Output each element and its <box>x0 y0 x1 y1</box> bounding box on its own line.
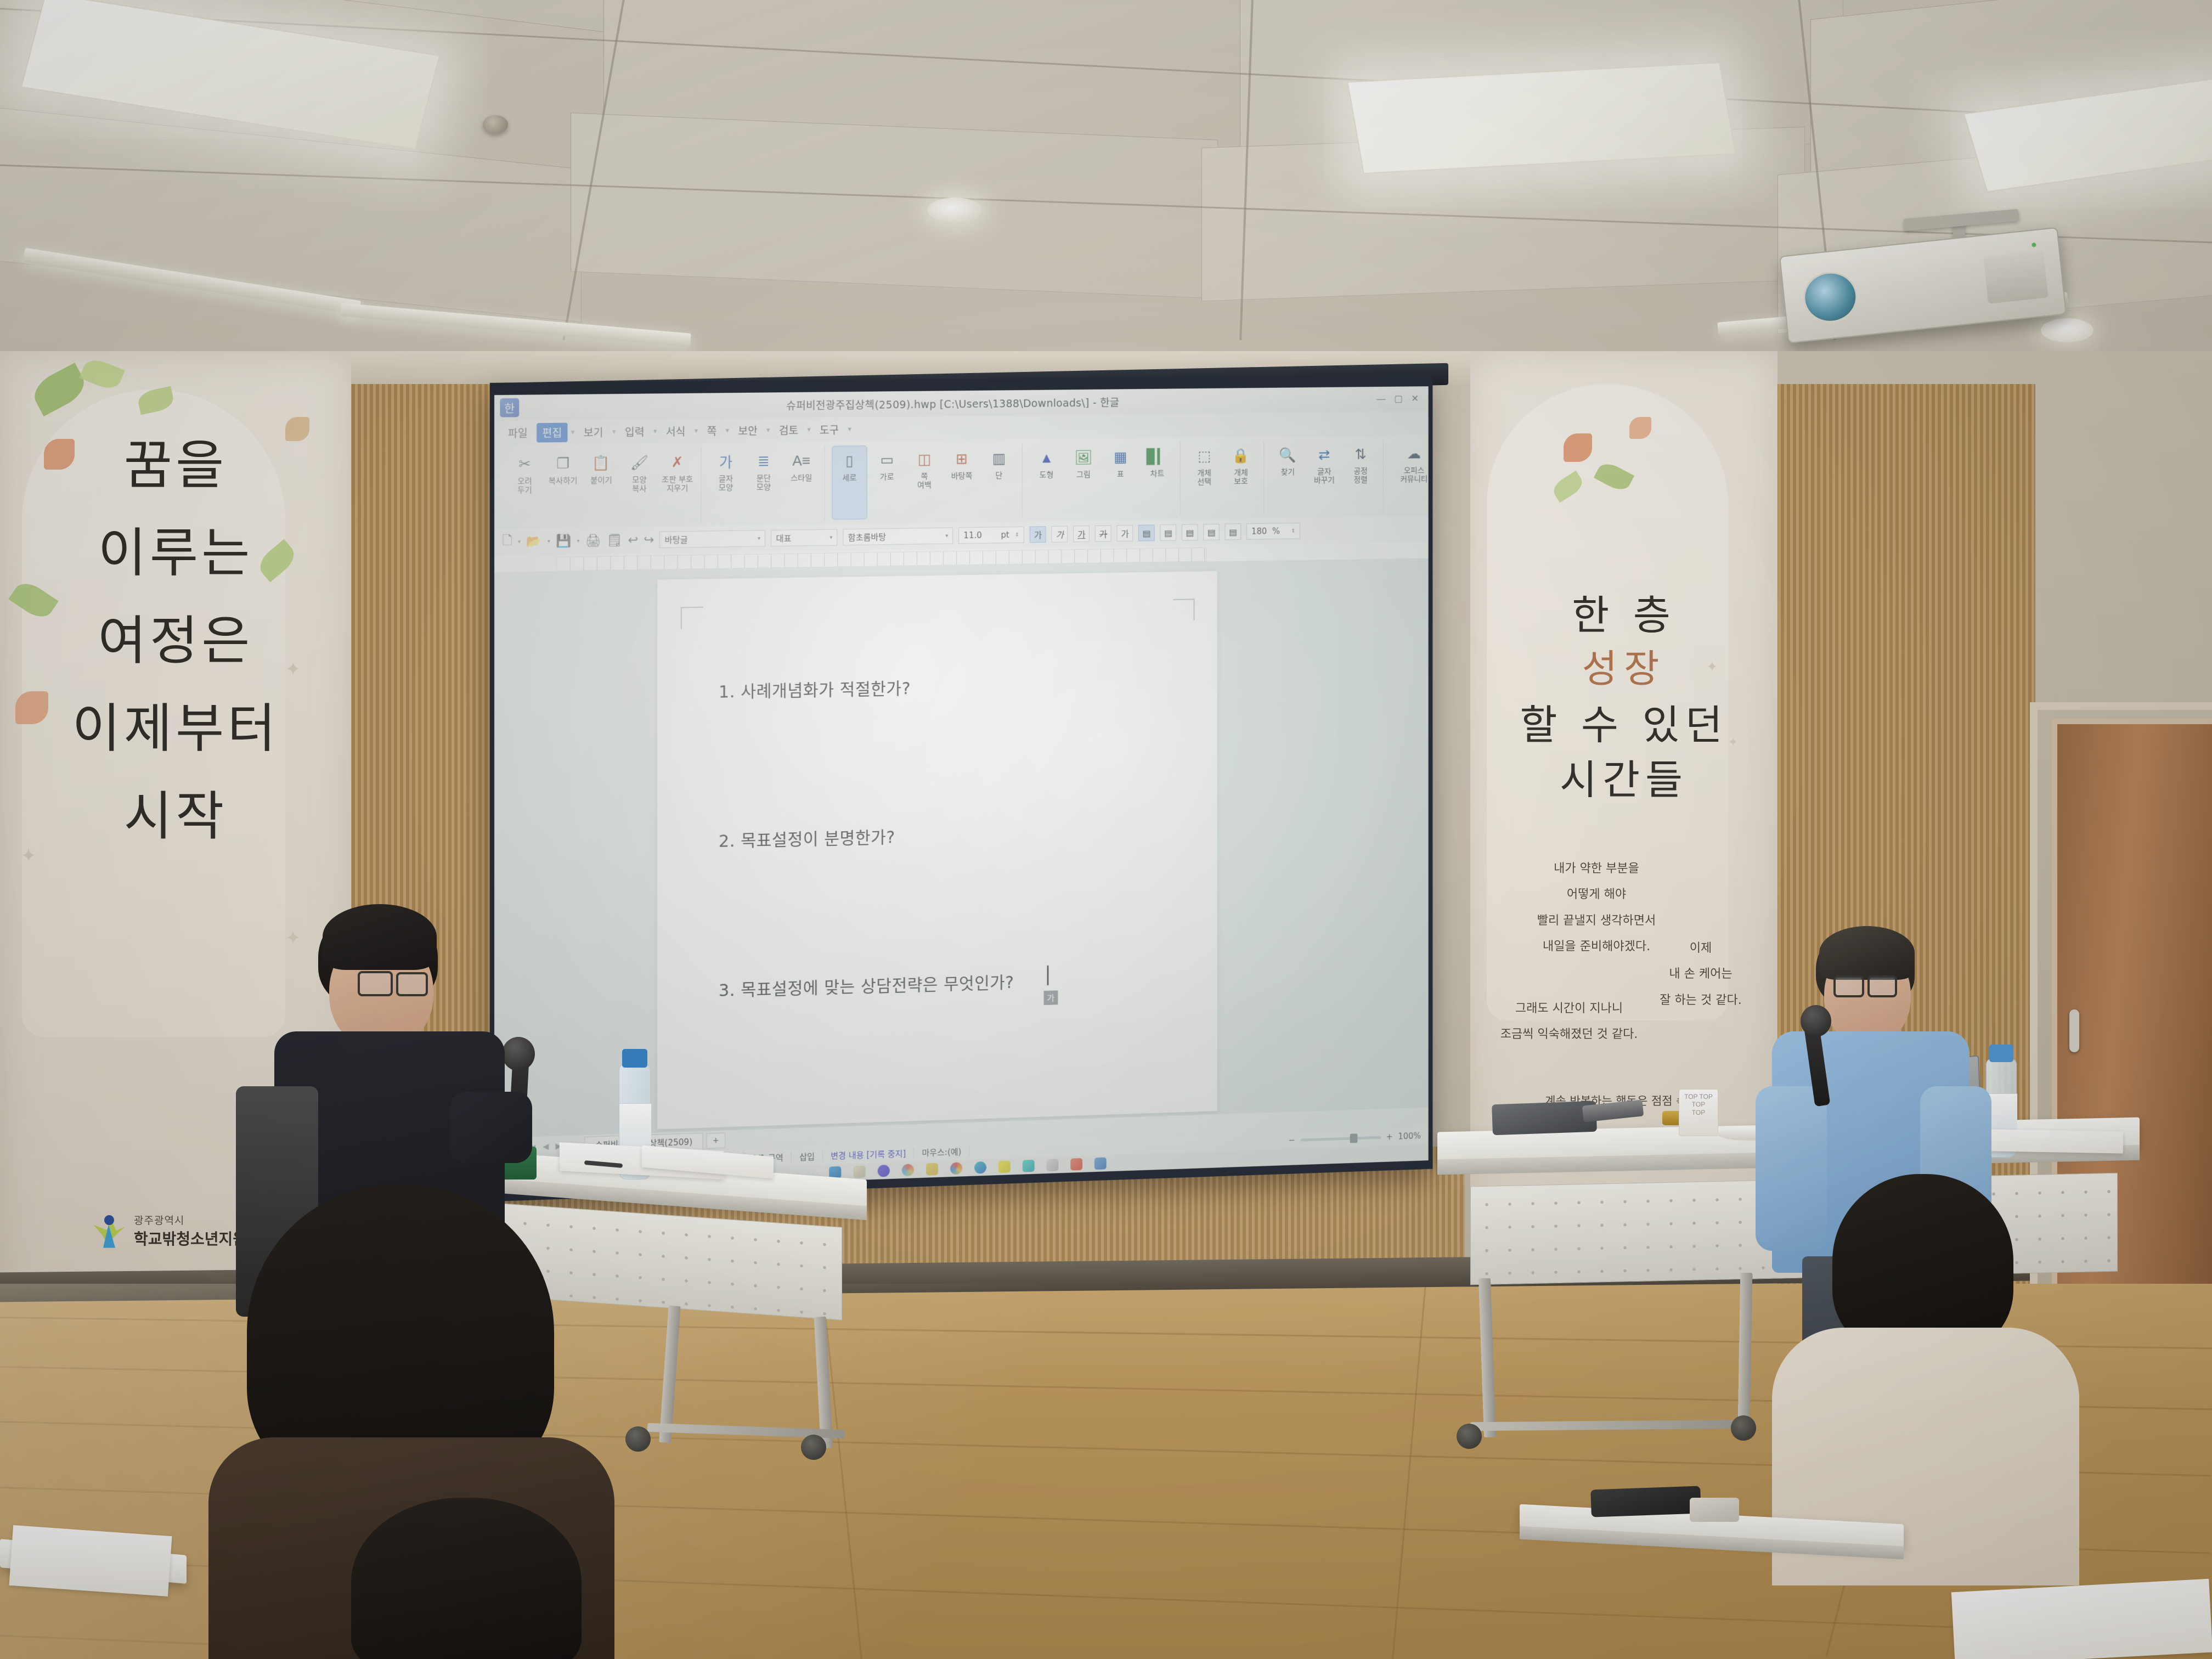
sparkle-decor-3: ✦ <box>285 927 301 949</box>
ribbon-group-text: 가 글자 모양 ≣ 문단 모양 A≡ 스타일 <box>702 446 825 522</box>
hwp-ribbon[interactable]: ✂ 오려 두기 ❐ 복사하기 📋 붙이기 🖌 <box>494 435 1429 529</box>
ribbon-office-community[interactable]: ☁ 오피스 커뮤니티 <box>1390 439 1429 512</box>
presenter-left-arm <box>450 1092 532 1163</box>
menu-sep: ▾ <box>612 427 616 436</box>
left-table-caster-2 <box>801 1435 826 1460</box>
shape-icon: ▲ <box>1036 447 1058 469</box>
font-size-selector[interactable]: 11.0 pt ⇕ <box>958 527 1024 544</box>
ribbon-group-insert: ▲ 도형 🖼 그림 ▦ 표 ▊▎ 차트 <box>1024 442 1181 517</box>
close-icon[interactable]: ✕ <box>1411 393 1419 404</box>
underline-button[interactable]: 가 <box>1074 526 1090 542</box>
share-icon[interactable] <box>1070 1158 1082 1171</box>
ribbon-copy[interactable]: ❐ 복사하기 <box>545 449 582 524</box>
font-icon: 가 <box>715 450 737 473</box>
stepper-icon[interactable]: ⇕ <box>1291 528 1295 534</box>
ribbon-clear-marks-label: 조판 부호 지우기 <box>662 475 693 493</box>
left-bottle-cap[interactable] <box>622 1049 647 1068</box>
margin-icon: ◫ <box>913 448 935 471</box>
left-banner-line-5: 시작 <box>0 779 351 854</box>
ribbon-group-office: ☁ 오피스 커뮤니티 <box>1385 439 1429 512</box>
minimize-icon[interactable]: — <box>1376 394 1386 405</box>
italic-button[interactable]: 가 <box>1052 526 1068 543</box>
ribbon-paragraph-label: 문단 모양 <box>757 474 771 492</box>
picture-icon: 🖼 <box>1073 446 1094 468</box>
ribbon-group-find: 🔍 찾기 ⇄ 글자 바꾸기 ⇅ 공정 정렬 <box>1265 440 1384 514</box>
status-mouse: 마우스:(예) <box>914 1145 969 1158</box>
redo-icon[interactable]: ↪ <box>644 533 654 548</box>
style-value: 바탕글 <box>665 534 688 546</box>
left-banner-line-3: 여정은 <box>0 603 351 678</box>
projector-lens <box>1801 269 1860 325</box>
right-banner-line-4: 시간들 <box>1470 752 1778 809</box>
menu-sep: ▾ <box>766 426 770 435</box>
kakao-icon[interactable] <box>998 1160 1011 1173</box>
menu-sep: ▾ <box>848 425 851 433</box>
ribbon-shape[interactable]: ▲ 도형 <box>1029 443 1064 517</box>
ribbon-object-select[interactable]: ⬚ 개체 선택 <box>1187 442 1222 515</box>
undo-icon[interactable]: ↩ <box>628 533 638 548</box>
zoom-level: 100% <box>1398 1131 1421 1141</box>
right-banner-line-3: 할 수 있던 <box>1470 697 1778 754</box>
audience-right-paper[interactable] <box>1951 1579 2212 1659</box>
ribbon-chart-label: 차트 <box>1150 470 1164 478</box>
scissors-icon: ✂ <box>513 453 536 475</box>
page-corner-mark-top-left <box>681 607 703 629</box>
font-value: 함초롬바탕 <box>848 531 886 543</box>
notes-icon[interactable] <box>926 1163 938 1176</box>
hwp-app-icon: 한 <box>500 398 519 417</box>
ribbon-paste-label: 붙이기 <box>590 476 612 486</box>
align-distribute-button[interactable]: ▤ <box>1225 523 1241 540</box>
right-flower-decor-2 <box>1629 417 1651 439</box>
status-track-changes[interactable]: 변경 내용 [기록 중지] <box>823 1147 914 1162</box>
line-spacing-value: 180 <box>1251 526 1267 536</box>
ribbon-office-label: 오피스 커뮤니티 <box>1400 466 1427 484</box>
audience-center-hair <box>351 1498 582 1659</box>
ribbon-margin-label: 쪽 여백 <box>917 472 932 490</box>
ribbon-landscape[interactable]: ▭ 가로 <box>870 445 905 519</box>
ribbon-copy-label: 복사하기 <box>549 477 578 486</box>
paragraph-icon: ≣ <box>753 450 775 472</box>
open-file-icon[interactable]: 📂 <box>526 534 541 549</box>
zoom-in-icon[interactable]: + <box>1386 1132 1392 1142</box>
sort-icon: ⇅ <box>1350 443 1372 465</box>
object-lock-icon: 🔒 <box>1230 444 1251 466</box>
columns-icon: ▥ <box>988 447 1010 469</box>
ribbon-chart[interactable]: ▊▎ 차트 <box>1140 442 1175 516</box>
presenter-left-glasses-right <box>396 972 428 996</box>
outline-button[interactable]: 가 <box>1117 525 1133 541</box>
ribbon-portrait-label: 세로 <box>842 473 856 482</box>
hangul-icon[interactable] <box>1046 1159 1058 1171</box>
info-icon[interactable] <box>1094 1157 1107 1170</box>
left-bottle-label <box>619 1103 651 1149</box>
ribbon-columns-label: 단 <box>995 471 1002 480</box>
chevron-down-icon: ▾ <box>758 535 760 541</box>
copy-icon: ❐ <box>552 452 574 475</box>
add-tab-button[interactable]: + <box>707 1133 726 1149</box>
right-bottle-cap[interactable] <box>1989 1045 2013 1062</box>
ribbon-picture[interactable]: 🖼 그림 <box>1066 443 1101 516</box>
audience-right-case <box>1690 1498 1739 1522</box>
audience-left-paper[interactable] <box>9 1525 172 1596</box>
caret-icon: ▾ <box>577 538 580 544</box>
menu-format[interactable]: 서식 <box>661 421 691 441</box>
menu-sep: ▾ <box>695 426 698 435</box>
ribbon-replace-label: 글자 바꾸기 <box>1314 467 1335 485</box>
right-banner-quote-bottom: 그래도 시간이 지나니 조금씩 익숙해졌던 것 같다. <box>1481 996 1657 1048</box>
line-spacing-unit: % <box>1272 526 1280 536</box>
caret-icon: ▾ <box>518 539 521 545</box>
quote-bottom-line-1: 그래도 시간이 지나니 <box>1481 996 1657 1022</box>
ribbon-columns[interactable]: ▥ 단 <box>981 444 1017 518</box>
right-microphone-head <box>1801 1005 1831 1037</box>
menu-edit[interactable]: 편집 <box>537 422 567 442</box>
ceiling <box>0 0 2212 384</box>
ribbon-object-lock-label: 개체 보호 <box>1234 469 1248 486</box>
ribbon-portrait[interactable]: ▯ 세로 <box>832 445 867 520</box>
quote-left-line-1: 내가 약한 부분을 <box>1498 856 1695 882</box>
menu-tools[interactable]: 도구 <box>814 420 844 439</box>
leaf-decor-2 <box>79 356 125 393</box>
quote-right-line-2: 내 손 케어는 <box>1635 961 1767 987</box>
left-banner-line-1: 꿈을 <box>0 428 351 503</box>
ribbon-group-page: ▯ 세로 ▭ 가로 ◫ 쪽 여백 ⊞ 바탕쪽 <box>826 444 1023 520</box>
ribbon-find-label: 찾기 <box>1281 468 1295 477</box>
recessed-downlight-1 <box>927 198 982 223</box>
edge-icon[interactable] <box>974 1161 986 1174</box>
ribbon-style-label: 스타일 <box>791 473 812 483</box>
replace-icon: ⇄ <box>1313 444 1335 466</box>
strikethrough-button[interactable]: 가 <box>1095 525 1111 541</box>
ime-indicator: 가 <box>1044 990 1058 1005</box>
photos-icon[interactable] <box>902 1164 914 1176</box>
presenter-left-glasses <box>358 971 393 996</box>
style-group-value: 대표 <box>776 532 792 544</box>
chevron-down-icon: ▾ <box>830 534 832 540</box>
quote-left-line-3: 빨리 끝낼지 생각하면서 <box>1498 908 1695 934</box>
quote-left-line-2: 어떻게 해야 <box>1498 882 1695 907</box>
portrait-icon: ▯ <box>838 449 860 472</box>
presenter-right-hair-top <box>1819 926 1915 980</box>
ribbon-group-object: ⬚ 개체 선택 🔒 개체 보호 <box>1182 441 1264 515</box>
document-line-2: 2. 목표설정이 분명한가? <box>719 823 895 852</box>
left-banner-line-4: 이제부터 <box>0 691 351 766</box>
sprinkler-head <box>483 115 508 134</box>
ribbon-format-copy-label: 모양 복사 <box>632 476 646 494</box>
right-mug[interactable]: TOP TOPTOPTOP <box>1679 1089 1718 1136</box>
object-select-icon: ⬚ <box>1194 445 1215 467</box>
print-icon[interactable]: 🖨 <box>585 533 601 548</box>
document-line-1: 1. 사례개념화가 적절한가? <box>719 675 911 703</box>
bold-button[interactable]: 가 <box>1030 526 1046 543</box>
ribbon-cut[interactable]: ✂ 오려 두기 <box>507 449 543 524</box>
chrome-icon[interactable] <box>950 1162 962 1175</box>
status-insert-mode: 삽입 <box>792 1150 823 1163</box>
music-icon[interactable] <box>1023 1160 1035 1172</box>
quote-right-line-1: 이제 <box>1635 935 1767 961</box>
ribbon-find[interactable]: 🔍 찾기 <box>1271 441 1305 513</box>
right-table-caster-2 <box>1731 1415 1756 1441</box>
ribbon-margin[interactable]: ◫ 쪽 여백 <box>907 445 942 519</box>
presenter-right-glasses <box>1833 975 1864 997</box>
seminar-room-photo: ✦ ✦ ✦ 꿈을 이루는 여정은 이제부터 시작 광주광역시 학교밖청소년지원센… <box>0 0 2212 1659</box>
youth-center-logo-icon <box>93 1213 127 1249</box>
paste-icon: 📋 <box>590 452 612 474</box>
ribbon-paste[interactable]: 📋 붙이기 <box>583 448 619 523</box>
recessed-downlight-2 <box>2041 318 2093 342</box>
align-center-button[interactable]: ▤ <box>1160 524 1177 541</box>
ribbon-format-copy[interactable]: 🖌 모양 복사 <box>622 448 657 522</box>
align-left-button[interactable]: ▤ <box>1138 524 1155 541</box>
maximize-icon[interactable]: ▢ <box>1394 393 1403 404</box>
door-handle[interactable] <box>2069 1009 2079 1052</box>
font-selector[interactable]: 함초롬바탕 ▾ <box>843 527 953 545</box>
presenter-right-arm-left <box>1756 1086 1827 1251</box>
text-cursor <box>1047 966 1048 985</box>
ribbon-style[interactable]: A≡ 스타일 <box>783 446 819 521</box>
edge-copilot-icon[interactable] <box>878 1165 890 1177</box>
ribbon-object-select-label: 개체 선택 <box>1198 469 1211 487</box>
right-banner-accent: 성장 <box>1470 642 1778 696</box>
find-icon: 🔍 <box>1277 444 1299 466</box>
office-community-icon: ☁ <box>1403 443 1425 465</box>
window-controls[interactable]: — ▢ ✕ <box>1376 393 1423 405</box>
ribbon-cut-label: 오려 두기 <box>517 477 532 495</box>
ribbon-picture-label: 그림 <box>1076 470 1091 479</box>
chevron-down-icon: ▾ <box>945 533 948 539</box>
preview-icon[interactable]: 🗒 <box>607 533 623 548</box>
left-table-caster-1 <box>625 1426 651 1452</box>
ribbon-landscape-label: 가로 <box>880 473 894 482</box>
menu-sep: ▾ <box>653 427 657 436</box>
right-banner-line-1: 한 층 <box>1470 587 1778 645</box>
master-page-icon: ⊞ <box>951 448 973 470</box>
zoom-slider[interactable] <box>1300 1136 1380 1141</box>
menu-security[interactable]: 보안 <box>732 420 763 440</box>
ribbon-group-clipboard: ✂ 오려 두기 ❐ 복사하기 📋 붙이기 🖌 <box>501 447 701 524</box>
menu-sep: ▾ <box>726 426 730 435</box>
ribbon-paragraph-shape[interactable]: ≣ 문단 모양 <box>746 447 782 521</box>
ceiling-light-panel-2 <box>1347 62 1736 174</box>
ribbon-master-page[interactable]: ⊞ 바탕쪽 <box>944 444 979 518</box>
menu-page[interactable]: 쪽 <box>701 421 722 441</box>
ribbon-clear-marks[interactable]: ✗ 조판 부호 지우기 <box>659 448 695 522</box>
menu-sep: ▾ <box>571 427 575 436</box>
ribbon-replace[interactable]: ⇄ 글자 바꾸기 <box>1307 440 1341 513</box>
ribbon-master-page-label: 바탕쪽 <box>951 472 973 481</box>
menu-file[interactable]: 파일 <box>502 423 533 443</box>
audience-right-phone[interactable] <box>1590 1486 1701 1517</box>
ribbon-font-label: 글자 모양 <box>719 475 733 493</box>
left-microphone-head <box>502 1037 535 1071</box>
prev-tab-icon[interactable]: ◀ <box>543 1142 549 1152</box>
ribbon-sort-label: 공정 정렬 <box>1354 467 1368 484</box>
style-group-selector[interactable]: 대표 ▾ <box>771 529 837 546</box>
ribbon-object-lock[interactable]: 🔒 개체 보호 <box>1224 441 1259 515</box>
file-explorer-icon[interactable] <box>853 1165 865 1178</box>
new-document-icon[interactable]: 🗋 <box>502 531 512 552</box>
leaf-decor-1 <box>29 363 91 416</box>
zoom-slider-knob[interactable] <box>1350 1133 1357 1143</box>
presenter-right-glasses-right <box>1867 975 1897 997</box>
style-icon: A≡ <box>791 449 812 472</box>
line-spacing-selector[interactable]: 180 % ⇕ <box>1246 523 1300 540</box>
ribbon-table-label: 표 <box>1117 470 1124 479</box>
menu-review[interactable]: 검토 <box>774 420 804 440</box>
document-line-3: 3. 목표설정에 맞는 상담전략은 무엇인가? <box>719 969 1014 1001</box>
stepper-icon[interactable]: ⇕ <box>1015 532 1019 538</box>
style-selector[interactable]: 바탕글 ▾ <box>659 530 765 548</box>
menu-sep: ▾ <box>807 425 811 434</box>
projector-vent <box>1983 251 2048 304</box>
font-size-unit: pt <box>1001 530 1009 540</box>
table-icon: ▦ <box>1110 446 1132 468</box>
presenter-left-hair-top <box>323 904 437 970</box>
document-page[interactable]: 1. 사례개념화가 적절한가? 2. 목표설정이 분명한가? 3. 목표설정에 … <box>657 571 1217 1129</box>
hwp-document-title: 슈퍼비전광주집상첵(2509).hwp [C:\Users\1388\Downl… <box>519 392 1376 415</box>
right-table-caster-1 <box>1457 1424 1482 1449</box>
zoom-controls[interactable]: − + 100% <box>1288 1131 1428 1145</box>
ribbon-sort[interactable]: ⇅ 공정 정렬 <box>1344 440 1378 513</box>
ribbon-font-shape[interactable]: 가 글자 모양 <box>708 447 744 522</box>
chart-icon: ▊▎ <box>1147 445 1168 467</box>
right-flower-decor-1 <box>1564 433 1592 462</box>
clear-marks-icon: ✗ <box>666 451 689 473</box>
right-remote-control[interactable] <box>1492 1101 1597 1136</box>
caret-icon: ▾ <box>548 538 550 544</box>
menu-input[interactable]: 입력 <box>619 421 650 441</box>
right-mug-text: TOP TOPTOPTOP <box>1683 1093 1714 1132</box>
format-copy-icon: 🖌 <box>628 451 651 473</box>
align-justify-button[interactable]: ▤ <box>1204 524 1220 540</box>
landscape-icon: ▭ <box>876 448 898 471</box>
quote-bottom-line-2: 조금씩 익숙해졌던 것 같다. <box>1481 1022 1657 1047</box>
page-corner-mark-top-right <box>1173 599 1194 620</box>
save-icon[interactable]: 💾 <box>556 534 571 549</box>
ribbon-table[interactable]: ▦ 표 <box>1103 443 1138 516</box>
projector-status-led <box>2032 242 2036 247</box>
font-size-value: 11.0 <box>963 531 981 540</box>
ribbon-shape-label: 도형 <box>1040 471 1054 479</box>
menu-view[interactable]: 보기 <box>578 422 608 442</box>
left-banner-line-2: 이루는 <box>0 516 351 590</box>
zoom-out-icon[interactable]: − <box>1288 1135 1295 1145</box>
align-right-button[interactable]: ▤ <box>1182 524 1198 540</box>
